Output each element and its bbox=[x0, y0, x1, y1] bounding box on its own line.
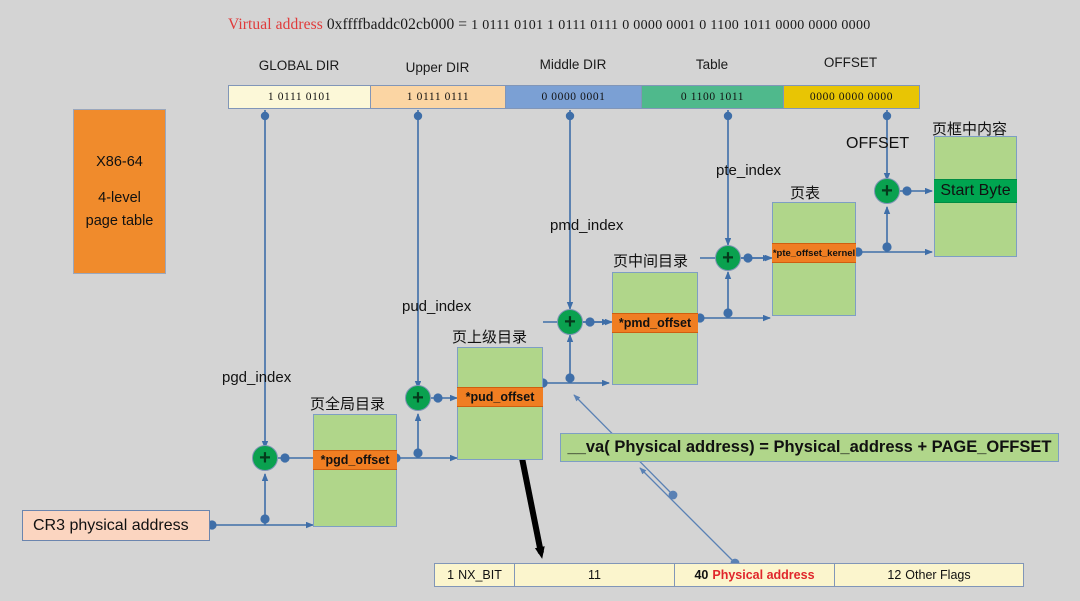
pte-table-box: *pte_offset_kernel bbox=[772, 202, 856, 316]
pgd-offset-entry: *pgd_offset bbox=[313, 450, 397, 470]
page-frame-box: Start Byte bbox=[934, 136, 1017, 257]
title-pte-table: 页表 bbox=[790, 182, 820, 203]
legend-line-1: X86-64 bbox=[96, 151, 143, 173]
bitcell-table: 0 1100 1011 bbox=[642, 86, 784, 108]
pte-field-reserved-label: 11 bbox=[588, 568, 601, 582]
pte-field-physical-address: 40 Physical address bbox=[675, 564, 835, 586]
pgd-add-node: + bbox=[252, 445, 278, 471]
bitcell-global-dir: 1 0111 0101 bbox=[229, 86, 371, 108]
virtual-address-line: Virtual address 0xffffbaddc02cb000 = 1 0… bbox=[228, 16, 871, 34]
field-label-offset: OFFSET bbox=[783, 55, 918, 70]
pte-entry-layout-strip: 1 NX_BIT 11 40 Physical address 12 Other… bbox=[434, 563, 1024, 587]
pud-table-box: *pud_offset bbox=[457, 347, 543, 460]
pte-field-reserved: 11 bbox=[515, 564, 675, 586]
va-macro-formula: __va( Physical address) = Physical_addre… bbox=[560, 433, 1059, 462]
diagram-canvas: Virtual address 0xffffbaddc02cb000 = 1 0… bbox=[0, 0, 1080, 601]
pte-field-other-flags: 12 Other Flags bbox=[835, 564, 1023, 586]
pte-field-physical-address-label: Physical address bbox=[712, 568, 814, 582]
offset-add-node: + bbox=[874, 178, 900, 204]
pte-offset-kernel-entry: *pte_offset_kernel bbox=[772, 243, 856, 263]
pud-add-node: + bbox=[405, 385, 431, 411]
legend-line-3: page table bbox=[86, 210, 154, 232]
cr3-physical-address-box: CR3 physical address bbox=[22, 510, 210, 541]
field-label-middle-dir: Middle DIR bbox=[505, 57, 641, 72]
pte-field-nx-bit: 1 NX_BIT bbox=[435, 564, 515, 586]
bitcell-offset: 0000 0000 0000 bbox=[784, 86, 919, 108]
title-pgd-table: 页全局目录 bbox=[310, 393, 385, 414]
virtual-address-hex: 0xffffbaddc02cb000 = bbox=[327, 16, 467, 33]
label-pmd-index: pmd_index bbox=[550, 217, 623, 234]
pte-add-node: + bbox=[715, 245, 741, 271]
pte-field-nx-bit-label: NX_BIT bbox=[458, 568, 502, 582]
pte-field-physical-address-width: 40 bbox=[694, 568, 708, 582]
pte-field-other-flags-label: Other Flags bbox=[905, 568, 970, 582]
start-byte-entry: Start Byte bbox=[934, 179, 1017, 203]
bitcell-middle-dir: 0 0000 0001 bbox=[506, 86, 642, 108]
title-pmd-table: 页中间目录 bbox=[613, 250, 688, 271]
virtual-address-bits: 1 0111 0101 1 0111 0111 0 0000 0001 0 11… bbox=[471, 18, 870, 33]
virtual-address-prefix: Virtual address bbox=[228, 16, 323, 33]
legend-box-x86-64: X86-64 4-level page table bbox=[73, 109, 166, 274]
label-pte-index: pte_index bbox=[716, 162, 781, 179]
pmd-table-box: *pmd_offset bbox=[612, 272, 698, 385]
legend-line-2: 4-level bbox=[98, 187, 141, 209]
pte-field-nx-bit-width: 1 bbox=[447, 568, 454, 582]
field-label-upper-dir: Upper DIR bbox=[370, 60, 505, 75]
label-pgd-index: pgd_index bbox=[222, 369, 291, 386]
label-pud-index: pud_index bbox=[402, 298, 471, 315]
field-label-table: Table bbox=[641, 57, 783, 72]
pgd-table-box: *pgd_offset bbox=[313, 414, 397, 527]
virtual-address-bitfield-strip: 1 0111 0101 1 0111 0111 0 0000 0001 0 11… bbox=[228, 85, 920, 109]
pud-offset-entry: *pud_offset bbox=[457, 387, 543, 407]
field-label-global-dir: GLOBAL DIR bbox=[228, 58, 370, 73]
pte-field-other-flags-width: 12 bbox=[887, 568, 901, 582]
bitcell-upper-dir: 1 0111 0111 bbox=[371, 86, 506, 108]
label-offset-add: OFFSET bbox=[846, 135, 909, 153]
title-pud-table: 页上级目录 bbox=[452, 326, 527, 347]
pmd-offset-entry: *pmd_offset bbox=[612, 313, 698, 333]
pmd-add-node: + bbox=[557, 309, 583, 335]
